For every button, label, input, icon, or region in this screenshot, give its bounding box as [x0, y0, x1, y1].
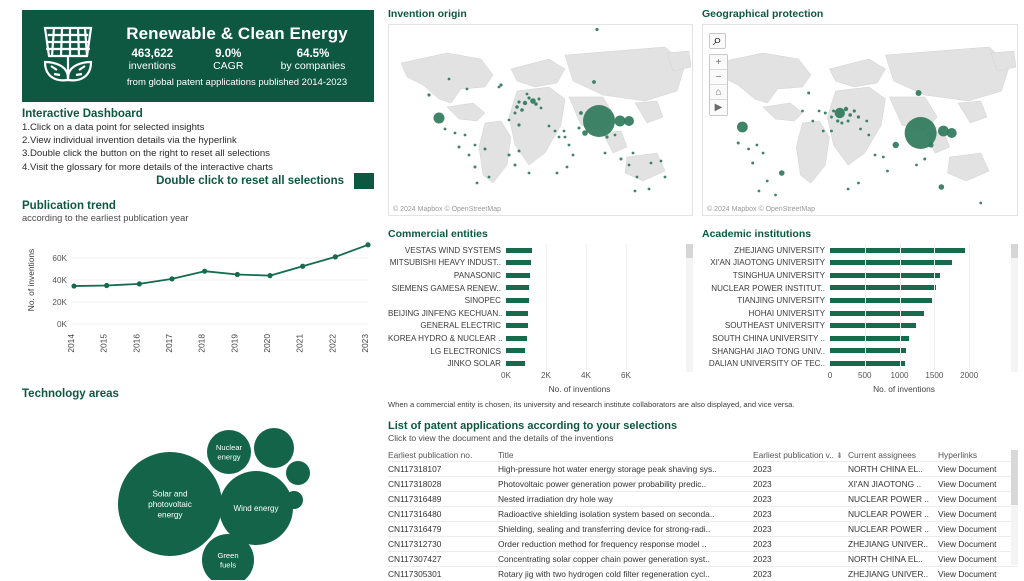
table-row[interactable]: CN117318028Photovoltaic power generation… — [388, 477, 1018, 492]
svg-text:Wind energy: Wind energy — [234, 504, 279, 513]
table-cell: Nested irradiation dry hole way — [498, 492, 753, 507]
bar-fill[interactable] — [830, 336, 909, 341]
stat-by-companies: 64.5% by companies — [281, 48, 346, 73]
svg-text:0K: 0K — [57, 320, 68, 329]
bar-row[interactable]: KOREA HYDRO & NUCLEAR .. — [388, 332, 693, 345]
stat-label: inventions — [129, 61, 176, 73]
header-banner: Renewable & Clean Energy 463,622 inventi… — [22, 10, 374, 102]
bar-fill[interactable] — [506, 323, 528, 328]
bar-row[interactable]: SHANGHAI JIAO TONG UNIV.. — [702, 345, 1018, 358]
axis-title: No. of inventions — [388, 384, 693, 394]
publication-trend-panel: Publication trend according to the earli… — [22, 200, 374, 375]
bar-label: MITSUBISHI HEAVY INDUST.. — [388, 258, 506, 267]
academic-institutions-panel: Academic institutions ZHEJIANG UNIVERSIT… — [702, 228, 1018, 376]
bar-row[interactable]: XI'AN JIAOTONG UNIVERSITY — [702, 257, 1018, 270]
map-controls: ⌕ + − ⌂ ▶ — [709, 33, 728, 116]
bar-label: GENERAL ELECTRIC — [388, 321, 506, 330]
svg-text:fuels: fuels — [220, 561, 236, 570]
bar-label: SIEMENS GAMESA RENEW.. — [388, 284, 506, 293]
svg-text:No. of inventions: No. of inventions — [26, 249, 36, 311]
table-cell: 2023 — [753, 462, 848, 477]
bar-label: VESTAS WIND SYSTEMS — [388, 246, 506, 255]
table-cell: 2023 — [753, 522, 848, 537]
svg-text:2014: 2014 — [66, 334, 76, 353]
sort-icon[interactable]: ⇟ — [834, 451, 843, 460]
gridline — [969, 244, 970, 370]
table-cell: 2023 — [753, 492, 848, 507]
svg-text:2022: 2022 — [327, 334, 337, 353]
commercial-entities-title: Commercial entities — [388, 228, 693, 240]
bar-row[interactable]: JINKO SOLAR — [388, 357, 693, 370]
bar-row[interactable]: ZHEJIANG UNIVERSITY — [702, 244, 1018, 257]
patent-list-title: List of patent applications according to… — [388, 420, 1018, 432]
bar-track — [506, 294, 693, 307]
bar-axis: 0K2K4K6KNo. of inventions — [388, 371, 693, 393]
table-cell: Concentrating solar copper chain power g… — [498, 552, 753, 567]
table-column-header[interactable]: Earliest publication no. — [388, 450, 498, 462]
pan-icon[interactable]: ▶ — [710, 100, 727, 115]
table-cell: CN117305301 — [388, 567, 498, 581]
table-cell: Radioactive shielding isolation system b… — [498, 507, 753, 522]
bar-track — [830, 269, 1018, 282]
table-cell: NORTH CHINA EL.. — [848, 462, 938, 477]
svg-text:2020: 2020 — [262, 334, 272, 353]
bar-track — [830, 357, 1018, 370]
table-cell: Rotary jig with two hydrogen cold filter… — [498, 567, 753, 581]
table-column-header[interactable]: Title — [498, 450, 753, 462]
bar-fill[interactable] — [830, 348, 906, 353]
technology-areas-panel: Technology areas Solar andphotovoltaicen… — [22, 388, 374, 578]
commercial-entities-scrollbar[interactable] — [686, 244, 693, 372]
bar-track — [830, 332, 1018, 345]
svg-text:photovoltaic: photovoltaic — [148, 500, 192, 509]
interactive-dashboard-info: Interactive Dashboard 1.Click on a data … — [22, 108, 374, 174]
view-document-link[interactable]: View Document — [938, 477, 1018, 492]
dashboard-page: Renewable & Clean Energy 463,622 inventi… — [0, 0, 1024, 581]
geographical-protection-map[interactable]: ⌕ + − ⌂ ▶ © 2024 Mapbox — [702, 24, 1018, 216]
banner-body: Renewable & Clean Energy 463,622 inventi… — [110, 14, 368, 98]
reset-label: Double click to reset all selections — [156, 175, 344, 187]
bar-fill[interactable] — [506, 248, 532, 253]
bar-fill[interactable] — [506, 348, 525, 353]
banner-title: Renewable & Clean Energy — [110, 24, 364, 44]
axis-tick-label: 500 — [858, 371, 872, 380]
bar-label: TIANJING UNIVERSITY — [702, 296, 830, 305]
table-cell: CN117312730 — [388, 537, 498, 552]
patent-list-table: Earliest publication no.TitleEarliest pu… — [388, 450, 1018, 581]
bar-track — [506, 357, 693, 370]
axis-tick-label: 6K — [621, 371, 631, 380]
table-cell: Photovoltaic power generation power prob… — [498, 477, 753, 492]
bar-track — [506, 307, 693, 320]
bar-label: SINOPEC — [388, 296, 506, 305]
bar-track — [830, 244, 1018, 257]
left-column: Renewable & Clean Energy 463,622 inventi… — [0, 0, 380, 581]
stat-label: by companies — [281, 61, 346, 73]
reset-selections-row: Double click to reset all selections — [22, 173, 374, 189]
info-line-3: 3.Double click the button on the right t… — [22, 147, 374, 160]
banner-stats: 463,622 inventions 9.0% CAGR 64.5% by co… — [110, 48, 364, 73]
invention-origin-panel: Invention origin © 2024 Mapbox © OpenStr… — [388, 8, 693, 216]
stat-value: 463,622 — [129, 48, 176, 61]
bar-row[interactable]: HOHAI UNIVERSITY — [702, 307, 1018, 320]
stat-inventions: 463,622 inventions — [129, 48, 176, 73]
table-cell: CN117316479 — [388, 522, 498, 537]
table-cell: NUCLEAR POWER .. — [848, 522, 938, 537]
bar-label: JINKO SOLAR — [388, 359, 506, 368]
map-zoom-group: + − ⌂ ▶ — [709, 54, 728, 116]
bar-row[interactable]: SOUTHEAST UNIVERSITY — [702, 320, 1018, 333]
table-cell: CN117316489 — [388, 492, 498, 507]
table-cell: CN117318028 — [388, 477, 498, 492]
view-document-link[interactable]: View Document — [938, 492, 1018, 507]
gridline — [865, 244, 866, 370]
table-cell: 2023 — [753, 507, 848, 522]
patent-list-table-wrapper[interactable]: Earliest publication no.TitleEarliest pu… — [388, 450, 1018, 581]
bar-track — [830, 345, 1018, 358]
bar-label: KOREA HYDRO & NUCLEAR .. — [388, 334, 506, 343]
bar-label: HOHAI UNIVERSITY — [702, 309, 830, 318]
bar-row[interactable]: GENERAL ELECTRIC — [388, 320, 693, 333]
bar-row[interactable]: TIANJING UNIVERSITY — [702, 294, 1018, 307]
bar-label: ZHEJIANG UNIVERSITY — [702, 246, 830, 255]
patent-list-subtitle: Click to view the document and the detai… — [388, 433, 1018, 443]
technology-areas-bubble-chart[interactable]: Solar andphotovoltaicenergyWind energyNu… — [22, 408, 374, 580]
bar-label: DALIAN UNIVERSITY OF TEC.. — [702, 359, 830, 368]
table-cell: 2023 — [753, 537, 848, 552]
bar-row[interactable]: PANASONIC — [388, 269, 693, 282]
gridline — [626, 244, 627, 370]
table-cell: 2023 — [753, 477, 848, 492]
bar-label: BEIJING JINFENG KECHUAN.. — [388, 309, 506, 318]
academic-institutions-title: Academic institutions — [702, 228, 1018, 240]
table-cell: NORTH CHINA EL.. — [848, 552, 938, 567]
bar-row[interactable]: SINOPEC — [388, 294, 693, 307]
bar-track — [830, 257, 1018, 270]
view-document-link[interactable]: View Document — [938, 507, 1018, 522]
bar-track — [506, 257, 693, 270]
bar-track — [830, 307, 1018, 320]
publication-trend-subtitle: according to the earliest publication ye… — [22, 213, 374, 223]
bar-track — [830, 320, 1018, 333]
axis-tick-label: 4K — [581, 371, 591, 380]
bar-fill[interactable] — [506, 285, 529, 290]
table-column-header[interactable]: Current assignees — [848, 450, 938, 462]
invention-origin-title: Invention origin — [388, 8, 693, 20]
bar-label: PANASONIC — [388, 271, 506, 280]
table-row[interactable]: CN117305301Rotary jig with two hydrogen … — [388, 567, 1018, 581]
search-icon[interactable]: ⌕ — [709, 33, 726, 49]
table-column-header[interactable]: Hyperlinks — [938, 450, 1018, 462]
bar-fill[interactable] — [506, 273, 530, 278]
bar-fill[interactable] — [506, 260, 531, 265]
svg-text:20K: 20K — [52, 298, 67, 307]
scrollbar-thumb[interactable] — [1011, 450, 1018, 505]
table-cell: NUCLEAR POWER .. — [848, 507, 938, 522]
bar-row[interactable]: TSINGHUA UNIVERSITY — [702, 269, 1018, 282]
collaborators-footnote: When a commercial entity is chosen, its … — [388, 400, 948, 409]
table-cell: Order reduction method for frequency res… — [498, 537, 753, 552]
patent-list-scrollbar[interactable] — [1011, 450, 1018, 565]
scrollbar-thumb[interactable] — [686, 244, 693, 258]
stat-value: 9.0% — [213, 48, 243, 61]
invention-origin-map[interactable]: © 2024 Mapbox © OpenStreetMap — [388, 24, 693, 216]
view-document-link[interactable]: View Document — [938, 537, 1018, 552]
bar-row[interactable]: SOUTH CHINA UNIVERSITY .. — [702, 332, 1018, 345]
bar-track — [506, 332, 693, 345]
bar-fill[interactable] — [830, 323, 916, 328]
table-cell: Shielding, sealing and transferring devi… — [498, 522, 753, 537]
bar-label: LG ELECTRONICS — [388, 347, 506, 356]
academic-institutions-scrollbar[interactable] — [1011, 244, 1018, 372]
svg-text:2015: 2015 — [99, 334, 109, 353]
info-line-1: 1.Click on a data point for selected ins… — [22, 121, 374, 134]
map-attribution: © 2024 Mapbox © OpenStreetMap — [707, 206, 815, 213]
svg-text:2019: 2019 — [229, 334, 239, 353]
bar-row[interactable]: LG ELECTRONICS — [388, 345, 693, 358]
bar-axis: 0500100015002000No. of inventions — [702, 371, 1018, 393]
home-glyph: ⌂ — [715, 87, 721, 98]
svg-text:energy: energy — [157, 510, 183, 519]
svg-text:2018: 2018 — [197, 334, 207, 353]
bar-label: SOUTH CHINA UNIVERSITY .. — [702, 334, 830, 343]
bar-label: TSINGHUA UNIVERSITY — [702, 271, 830, 280]
table-row[interactable]: CN117316489Nested irradiation dry hole w… — [388, 492, 1018, 507]
table-cell: CN117307427 — [388, 552, 498, 567]
table-cell: High-pressure hot water energy storage p… — [498, 462, 753, 477]
table-cell: CN117316480 — [388, 507, 498, 522]
bar-label: SOUTHEAST UNIVERSITY — [702, 321, 830, 330]
bar-track — [830, 282, 1018, 295]
table-cell: 2023 — [753, 567, 848, 581]
bar-label: SHANGHAI JIAO TONG UNIV.. — [702, 347, 830, 356]
bar-fill[interactable] — [830, 298, 932, 303]
table-row[interactable]: CN117307427Concentrating solar copper ch… — [388, 552, 1018, 567]
table-cell: ZHEJIANG UNIVER.. — [848, 537, 938, 552]
view-document-link[interactable]: View Document — [938, 567, 1018, 581]
bar-fill[interactable] — [506, 336, 527, 341]
bar-fill[interactable] — [506, 298, 529, 303]
bar-row[interactable]: MITSUBISHI HEAVY INDUST.. — [388, 257, 693, 270]
axis-tick-label: 2000 — [960, 371, 978, 380]
commercial-entities-bars[interactable]: VESTAS WIND SYSTEMSMITSUBISHI HEAVY INDU… — [388, 244, 693, 370]
table-cell: NUCLEAR POWER .. — [848, 492, 938, 507]
svg-text:Green: Green — [217, 551, 238, 560]
bar-track — [506, 282, 693, 295]
table-cell: XI'AN JIAOTONG .. — [848, 477, 938, 492]
solar-panel-leaf-icon — [26, 14, 110, 98]
gridline — [900, 244, 901, 370]
search-glyph: ⌕ — [713, 32, 722, 50]
svg-text:Nuclear: Nuclear — [216, 443, 243, 452]
publication-trend-title: Publication trend — [22, 200, 374, 212]
svg-text:60K: 60K — [52, 254, 67, 263]
table-row[interactable]: CN117318107High-pressure hot water energ… — [388, 462, 1018, 477]
bar-fill[interactable] — [506, 311, 528, 316]
zoom-out-icon[interactable]: − — [710, 70, 727, 85]
geographical-protection-panel: Geographical protection ⌕ + − ⌂ — [702, 8, 1018, 216]
stat-label: CAGR — [213, 61, 243, 73]
zoom-in-icon[interactable]: + — [710, 55, 727, 70]
table-cell: CN117318107 — [388, 462, 498, 477]
bar-fill[interactable] — [830, 285, 936, 290]
scrollbar-thumb[interactable] — [1011, 244, 1018, 258]
bar-fill[interactable] — [830, 273, 940, 278]
bar-row[interactable]: DALIAN UNIVERSITY OF TEC.. — [702, 357, 1018, 370]
axis-tick-label: 2K — [541, 371, 551, 380]
svg-text:Solar and: Solar and — [152, 489, 187, 498]
bar-row[interactable]: VESTAS WIND SYSTEMS — [388, 244, 693, 257]
bar-fill[interactable] — [830, 361, 905, 366]
bar-fill[interactable] — [506, 361, 525, 366]
academic-institutions-bars[interactable]: ZHEJIANG UNIVERSITYXI'AN JIAOTONG UNIVER… — [702, 244, 1018, 370]
view-document-link[interactable]: View Document — [938, 552, 1018, 567]
view-document-link[interactable]: View Document — [938, 462, 1018, 477]
bar-fill[interactable] — [830, 311, 924, 316]
bar-label: XI'AN JIAOTONG UNIVERSITY — [702, 258, 830, 267]
bar-track — [506, 320, 693, 333]
table-header-row: Earliest publication no.TitleEarliest pu… — [388, 450, 1018, 462]
axis-tick-label: 1500 — [925, 371, 943, 380]
bar-track — [830, 294, 1018, 307]
geographical-protection-title: Geographical protection — [702, 8, 1018, 20]
home-icon[interactable]: ⌂ — [710, 85, 727, 100]
bar-row[interactable]: SIEMENS GAMESA RENEW.. — [388, 282, 693, 295]
stat-cagr: 9.0% CAGR — [213, 48, 243, 73]
svg-text:2016: 2016 — [131, 334, 141, 353]
svg-text:40K: 40K — [52, 276, 67, 285]
axis-tick-label: 1000 — [891, 371, 909, 380]
bar-track — [506, 244, 693, 257]
axis-title: No. of inventions — [702, 384, 1018, 394]
map-attribution: © 2024 Mapbox © OpenStreetMap — [393, 206, 501, 213]
zoom-out-glyph: − — [716, 72, 722, 83]
bar-row[interactable]: NUCLEAR POWER INSTITUT.. — [702, 282, 1018, 295]
technology-areas-title: Technology areas — [22, 388, 374, 400]
bar-label: NUCLEAR POWER INSTITUT.. — [702, 284, 830, 293]
svg-text:2017: 2017 — [164, 334, 174, 353]
view-document-link[interactable]: View Document — [938, 522, 1018, 537]
gridline — [586, 244, 587, 370]
bar-track — [506, 345, 693, 358]
gridline — [546, 244, 547, 370]
patent-list-panel: List of patent applications according to… — [388, 420, 1018, 581]
info-line-4: 4.Visit the glossary for more details of… — [22, 161, 374, 174]
stat-value: 64.5% — [281, 48, 346, 61]
table-row[interactable]: CN117312730Order reduction method for fr… — [388, 537, 1018, 552]
table-row[interactable]: CN117316479Shielding, sealing and transf… — [388, 522, 1018, 537]
axis-tick-label: 0 — [828, 371, 833, 380]
table-cell: ZHEJIANG UNIVER.. — [848, 567, 938, 581]
commercial-entities-panel: Commercial entities VESTAS WIND SYSTEMSM… — [388, 228, 693, 358]
axis-tick-label: 0K — [501, 371, 511, 380]
table-column-header[interactable]: Earliest publication v.. ⇟ — [753, 450, 848, 462]
info-title: Interactive Dashboard — [22, 108, 374, 120]
publication-trend-chart[interactable]: 0K20K40K60KNo. of inventions201420152016… — [22, 228, 374, 373]
svg-text:2023: 2023 — [360, 334, 370, 353]
zoom-in-glyph: + — [716, 57, 722, 68]
table-row[interactable]: CN117316480Radioactive shielding isolati… — [388, 507, 1018, 522]
info-line-2: 2.View individual invention details via … — [22, 134, 374, 147]
table-cell: 2023 — [753, 552, 848, 567]
pan-glyph: ▶ — [715, 102, 723, 113]
svg-text:2021: 2021 — [295, 334, 305, 353]
bar-fill[interactable] — [830, 248, 965, 253]
bar-track — [506, 269, 693, 282]
svg-text:energy: energy — [217, 453, 240, 462]
reset-all-selections-button[interactable] — [354, 173, 374, 189]
banner-footer: from global patent applications publishe… — [110, 77, 364, 88]
bar-row[interactable]: BEIJING JINFENG KECHUAN.. — [388, 307, 693, 320]
gridline — [934, 244, 935, 370]
